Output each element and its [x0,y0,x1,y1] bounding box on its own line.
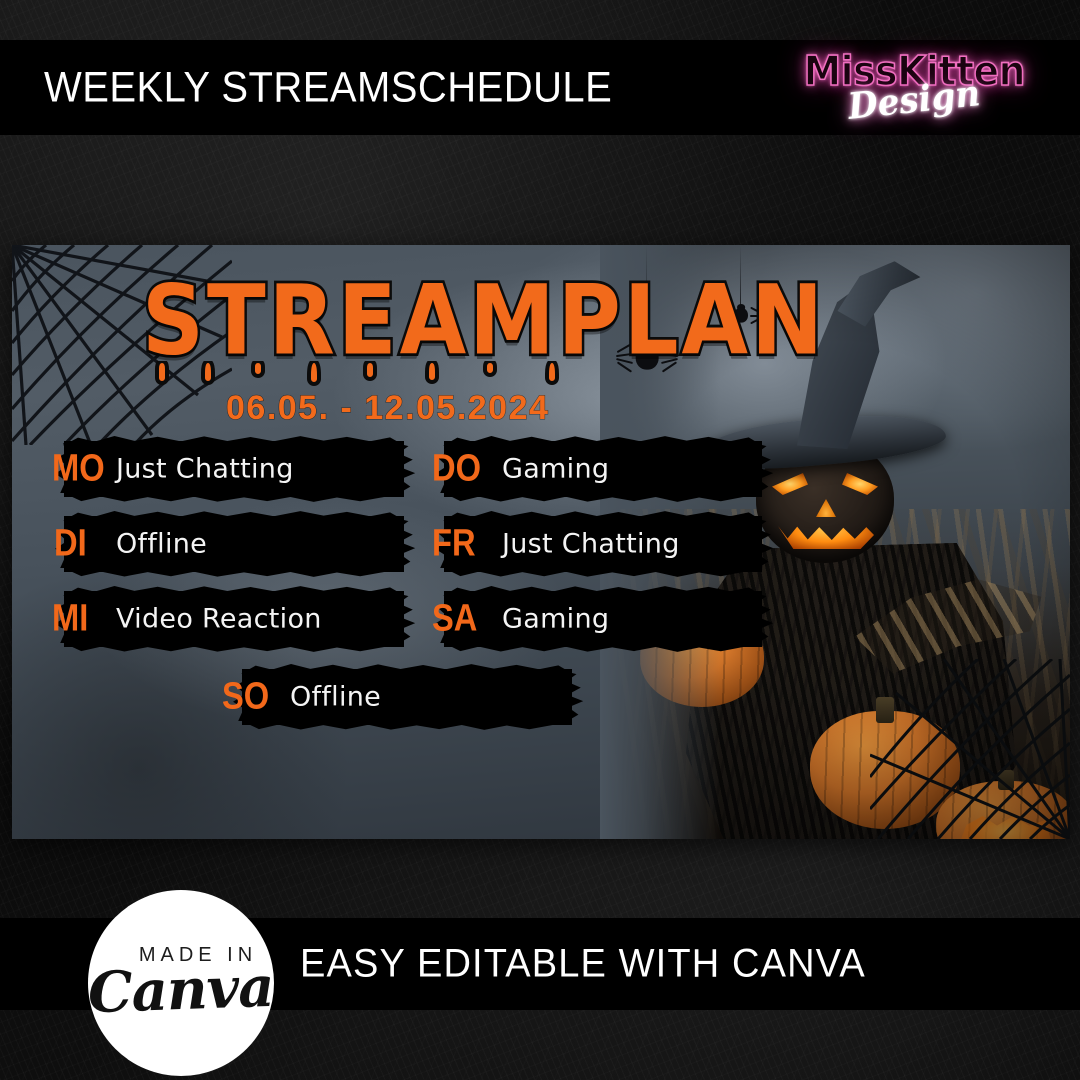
page-title: WEEKLY STREAMSCHEDULE [44,63,655,112]
stream-schedule-card: STREAMPLAN 06.05. - 12.05.2024 [12,245,1070,839]
paint-edge-bottom [246,723,568,732]
paint-edge-bottom [68,645,400,654]
activity-sa[interactable]: Gaming [502,604,609,635]
badge-canva-text: Canva [87,953,275,1025]
activity-mi[interactable]: Video Reaction [116,604,322,635]
schedule-row[interactable]: MI Video Reaction [64,591,404,647]
paint-edge-bottom [68,570,400,579]
schedule-row[interactable]: MO Just Chatting [64,441,404,497]
footer-title: EASY EDITABLE WITH CANVA [300,942,896,987]
schedule-row[interactable]: SO Offline [242,669,572,725]
activity-do[interactable]: Gaming [502,454,609,485]
paint-edge-top [68,434,400,443]
made-in-canva-badge: MADE IN Canva [88,890,274,1076]
title-drip-decoration [146,361,606,387]
day-label-do: DO [432,448,481,491]
paint-edge-top [246,662,568,671]
schedule-row[interactable]: SA Gaming [444,591,762,647]
brand-logo: MissKitten Design [794,45,1034,131]
day-label-di: DI [54,523,87,566]
paint-edge-bottom [68,495,400,504]
activity-so[interactable]: Offline [290,682,381,713]
card-title-group: STREAMPLAN 06.05. - 12.05.2024 [142,265,826,365]
schedule-row[interactable]: FR Just Chatting [444,516,762,572]
poster-canvas: WEEKLY STREAMSCHEDULE MissKitten Design [0,0,1080,1080]
activity-fr[interactable]: Just Chatting [502,529,680,560]
day-label-mi: MI [52,598,88,641]
row-paint-stroke [64,516,404,572]
footer-title-text: EASY EDITABLE WITH CANVA [300,942,866,987]
header-band: WEEKLY STREAMSCHEDULE MissKitten Design [0,40,1080,135]
day-label-mo: MO [52,448,105,491]
date-range: 06.05. - 12.05.2024 [226,389,549,428]
day-label-sa: SA [432,598,477,641]
day-label-fr: FR [432,523,476,566]
schedule-row[interactable]: DO Gaming [444,441,762,497]
day-label-so: SO [222,676,269,719]
activity-di[interactable]: Offline [116,529,207,560]
activity-mo[interactable]: Just Chatting [116,454,294,485]
paint-edge-top [68,509,400,518]
schedule-row[interactable]: DI Offline [64,516,404,572]
paint-edge-top [68,584,400,593]
page-title-text: WEEKLY STREAMSCHEDULE [44,63,612,112]
